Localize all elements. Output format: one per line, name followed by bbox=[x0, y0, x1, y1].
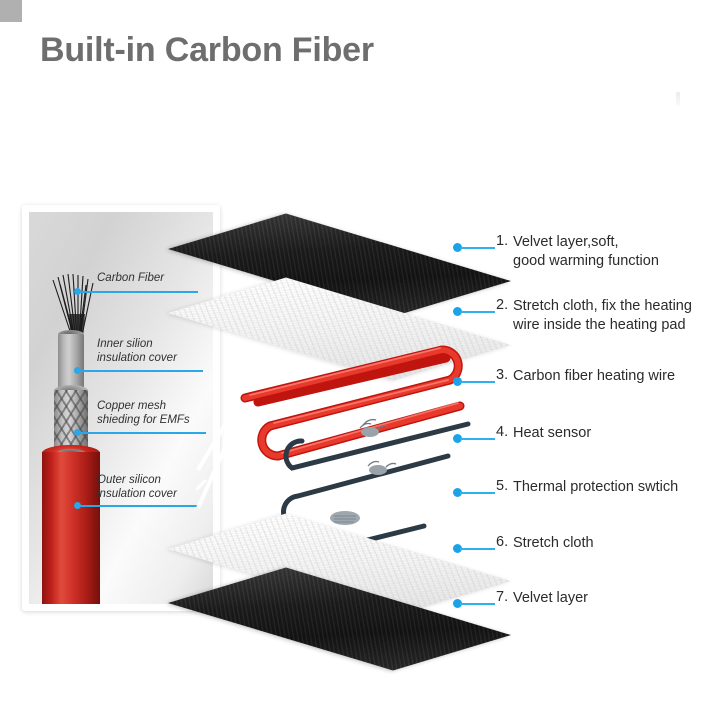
cable-leader-dot-inner-silicon bbox=[74, 367, 81, 374]
faint-watermark bbox=[676, 92, 680, 106]
cable-leader-line-carbon-fiber bbox=[78, 291, 198, 293]
callout-number: 1. bbox=[496, 233, 508, 249]
cable-leader-dot-carbon-fiber bbox=[74, 288, 81, 295]
infographic-canvas: Built-in Carbon Fiber Carbon bbox=[0, 0, 720, 720]
page-title: Built-in Carbon Fiber bbox=[40, 31, 374, 70]
cable-leader-line-copper-mesh bbox=[78, 432, 206, 434]
callout-number: 3. bbox=[496, 367, 508, 383]
callout-text: Carbon fiber heating wire bbox=[513, 367, 720, 386]
callout-leader-line bbox=[460, 492, 495, 494]
outer-silicon-jacket bbox=[42, 452, 100, 604]
callout-text: Thermal protection swtich bbox=[513, 478, 720, 497]
callout-leader-line bbox=[460, 381, 495, 383]
cable-leader-dot-copper-mesh bbox=[74, 429, 81, 436]
callout-leader-line bbox=[460, 247, 495, 249]
corner-marker bbox=[0, 0, 22, 22]
callout-leader-line bbox=[460, 548, 495, 550]
cable-leader-line-outer-silicon bbox=[78, 505, 200, 507]
callout-leader-line bbox=[460, 603, 495, 605]
callout-number: 5. bbox=[496, 478, 508, 494]
sensor-bead bbox=[360, 420, 388, 437]
cable-leader-dot-outer-silicon bbox=[74, 502, 81, 509]
callout-text: Velvet layer bbox=[513, 589, 720, 608]
callout-number: 7. bbox=[496, 589, 508, 605]
callout-text: Velvet layer,soft, good warming function bbox=[513, 233, 720, 271]
exploded-layer-stack bbox=[215, 200, 495, 630]
callout-leader-line bbox=[460, 311, 495, 313]
cable-leader-line-inner-silicon bbox=[78, 370, 203, 372]
cable-label-inner-silicon: Inner silion insulation cover bbox=[97, 338, 177, 365]
callout-number: 4. bbox=[496, 424, 508, 440]
callout-number: 2. bbox=[496, 297, 508, 313]
callout-text: Stretch cloth, fix the heating wire insi… bbox=[513, 297, 720, 335]
cable-label-copper-mesh: Copper mesh shieding for EMFs bbox=[97, 400, 190, 427]
cable-label-carbon-fiber: Carbon Fiber bbox=[97, 272, 164, 286]
callout-number: 6. bbox=[496, 534, 508, 550]
callout-text: Heat sensor bbox=[513, 424, 720, 443]
callout-text: Stretch cloth bbox=[513, 534, 720, 553]
callout-leader-line bbox=[460, 438, 495, 440]
layer-velvet-bottom bbox=[227, 560, 452, 678]
cable-label-outer-silicon: Outer silicon insulation cover bbox=[97, 474, 177, 501]
